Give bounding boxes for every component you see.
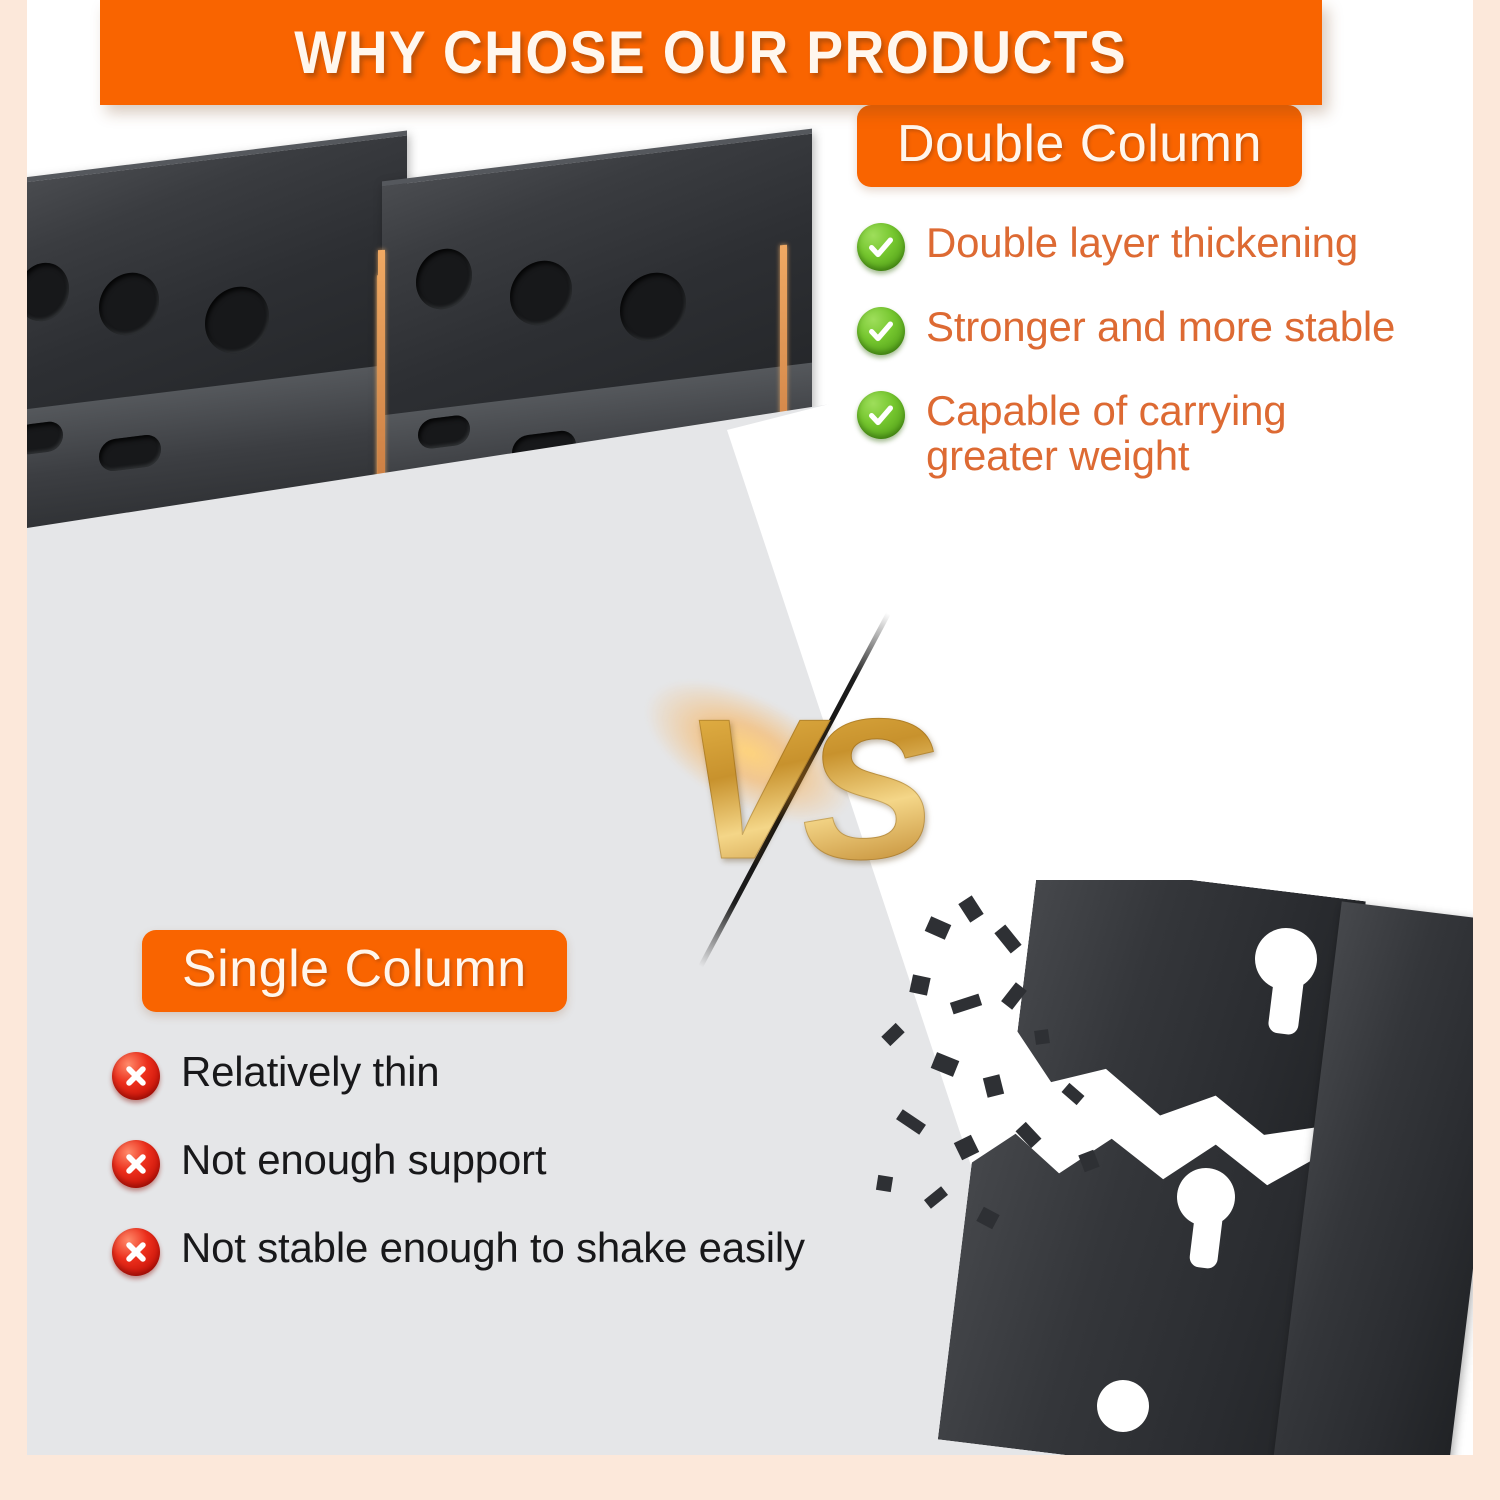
page-title-banner: WHY CHOSE OUR PRODUCTS [100, 0, 1322, 105]
content-stage: Double Column Double layer thickening St… [27, 0, 1473, 1455]
single-column-text-block: Single Column Relatively thin Not enough… [112, 930, 912, 1276]
list-item: Capable of carrying greater weight [857, 389, 1473, 479]
debris-shard [1034, 1029, 1050, 1045]
debris-shard [931, 1052, 960, 1077]
list-item: Double layer thickening [857, 221, 1473, 271]
list-item: Relatively thin [112, 1050, 912, 1100]
vs-label: VS [637, 640, 967, 940]
double-column-badge: Double Column [857, 105, 1302, 187]
cross-circle-icon [112, 1228, 160, 1276]
debris-shard [994, 924, 1021, 953]
check-circle-icon [857, 391, 905, 439]
list-item-label: Stronger and more stable [926, 305, 1395, 350]
list-item-label: Not enough support [181, 1138, 546, 1183]
versus-divider: VS [637, 640, 967, 940]
list-item: Not enough support [112, 1138, 912, 1188]
debris-shard [1062, 1083, 1085, 1105]
broken-column-product-photo [867, 880, 1473, 1455]
double-column-bullet-list: Double layer thickening Stronger and mor… [857, 221, 1473, 479]
check-circle-icon [857, 307, 905, 355]
cross-circle-icon [112, 1052, 160, 1100]
single-column-badge: Single Column [142, 930, 567, 1012]
debris-shard [983, 1074, 1004, 1098]
debris-shard [954, 1135, 979, 1160]
list-item-label: Not stable enough to shake easily [181, 1226, 805, 1271]
check-circle-icon [857, 223, 905, 271]
list-item-label: Relatively thin [181, 1050, 439, 1095]
list-item-label: Double layer thickening [926, 221, 1358, 266]
debris-shard [950, 994, 982, 1015]
double-column-text-block: Double Column Double layer thickening St… [857, 105, 1473, 479]
debris-shard [909, 974, 930, 995]
single-column-bullet-list: Relatively thin Not enough support Not s… [112, 1050, 912, 1276]
page-title: WHY CHOSE OUR PRODUCTS [295, 18, 1128, 87]
list-item: Not stable enough to shake easily [112, 1226, 912, 1276]
list-item-label: Capable of carrying greater weight [926, 389, 1356, 479]
debris-shard [924, 1186, 948, 1208]
list-item: Stronger and more stable [857, 305, 1473, 355]
cross-circle-icon [112, 1140, 160, 1188]
